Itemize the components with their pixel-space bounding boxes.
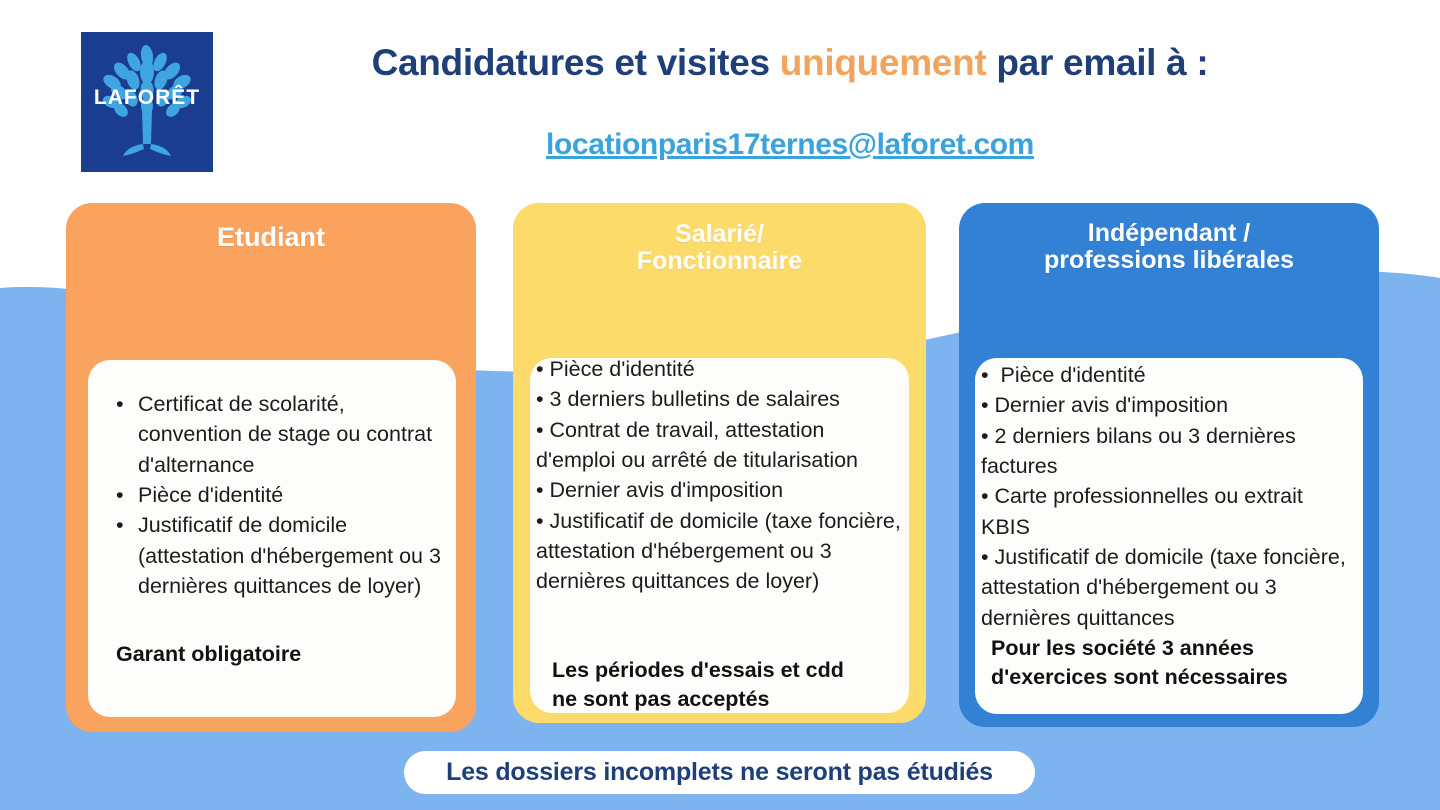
card-independant-note-line2: d'exercices sont nécessaires — [991, 663, 1288, 692]
card-independant-note-line1: Pour les société 3 années — [991, 634, 1288, 663]
bullet-text: Certificat de scolarité, convention de s… — [138, 392, 432, 477]
list-item: • 2 derniers bilans ou 3 dernières factu… — [981, 421, 1357, 482]
list-item: • Dernier avis d'imposition — [536, 475, 903, 505]
card-salarie-note: Les périodes d'essais et cdd ne sont pas… — [552, 656, 844, 713]
list-item: • Pièce d'identité — [536, 354, 903, 384]
card-salarie-note-line1: Les périodes d'essais et cdd — [552, 656, 844, 685]
list-item: Justificatif de domicile (attestation d'… — [116, 510, 446, 601]
card-etudiant-panel: Certificat de scolarité, convention de s… — [88, 360, 456, 717]
card-independant-title-line1: Indépendant / — [959, 220, 1379, 247]
bullet-text: Carte professionnelles ou extrait KBIS — [981, 484, 1303, 538]
card-etudiant-bullets: Certificat de scolarité, convention de s… — [88, 389, 456, 601]
card-etudiant-note: Garant obligatoire — [116, 640, 301, 669]
card-independant-title: Indépendant / professions libérales — [959, 220, 1379, 274]
list-item: • Contrat de travail, attestation d'empl… — [536, 415, 903, 476]
footer-banner: Les dossiers incomplets ne seront pas ét… — [404, 751, 1035, 794]
footer-message: Les dossiers incomplets ne seront pas ét… — [446, 758, 993, 787]
card-salarie-note-line2: ne sont pas acceptés — [552, 685, 844, 714]
card-salarie-title-line2: Fonctionnaire — [513, 248, 926, 275]
card-etudiant-title: Etudiant — [66, 223, 476, 252]
list-item: • Justificatif de domicile (taxe foncièr… — [536, 506, 903, 597]
card-salarie-panel: • Pièce d'identité • 3 derniers bulletin… — [530, 358, 909, 713]
card-independant-bullets: • Pièce d'identité • Dernier avis d'impo… — [975, 360, 1363, 633]
list-item: • Justificatif de domicile (taxe foncièr… — [981, 542, 1357, 633]
list-item: • 3 derniers bulletins de salaires — [536, 384, 903, 414]
bullet-text: Justificatif de domicile (taxe foncière,… — [536, 509, 901, 594]
bullet-text: Dernier avis d'imposition — [550, 478, 784, 502]
category-cards: Etudiant Certificat de scolarité, conven… — [0, 0, 1440, 810]
bullet-text: Justificatif de domicile (taxe foncière,… — [981, 545, 1346, 630]
bullet-text: 3 derniers bulletins de salaires — [550, 387, 840, 411]
list-item: • Pièce d'identité — [981, 360, 1357, 390]
bullet-text: Pièce d'identité — [138, 483, 283, 507]
card-salarie-title-line1: Salarié/ — [513, 221, 926, 248]
list-item: • Dernier avis d'imposition — [981, 390, 1357, 420]
bullet-text: Dernier avis d'imposition — [995, 393, 1229, 417]
card-independant: Indépendant / professions libérales • Pi… — [959, 203, 1379, 727]
list-item: Certificat de scolarité, convention de s… — [116, 389, 446, 480]
card-etudiant: Etudiant Certificat de scolarité, conven… — [66, 203, 476, 732]
bullet-text: 2 derniers bilans ou 3 dernières facture… — [981, 424, 1296, 478]
bullet-text: Contrat de travail, attestation d'emploi… — [536, 418, 858, 472]
list-item: • Carte professionnelles ou extrait KBIS — [981, 481, 1357, 542]
card-independant-panel: • Pièce d'identité • Dernier avis d'impo… — [975, 358, 1363, 714]
card-salarie-bullets: • Pièce d'identité • 3 derniers bulletin… — [530, 354, 909, 597]
list-item: Pièce d'identité — [116, 480, 446, 510]
card-salarie-fonctionnaire: Salarié/ Fonctionnaire • Pièce d'identit… — [513, 203, 926, 723]
card-independant-note: Pour les société 3 années d'exercices so… — [991, 634, 1288, 691]
bullet-text: Pièce d'identité — [995, 363, 1146, 387]
card-independant-title-line2: professions libérales — [959, 247, 1379, 274]
card-salarie-title: Salarié/ Fonctionnaire — [513, 221, 926, 275]
bullet-text: Pièce d'identité — [550, 357, 695, 381]
bullet-text: Justificatif de domicile (attestation d'… — [138, 513, 441, 598]
